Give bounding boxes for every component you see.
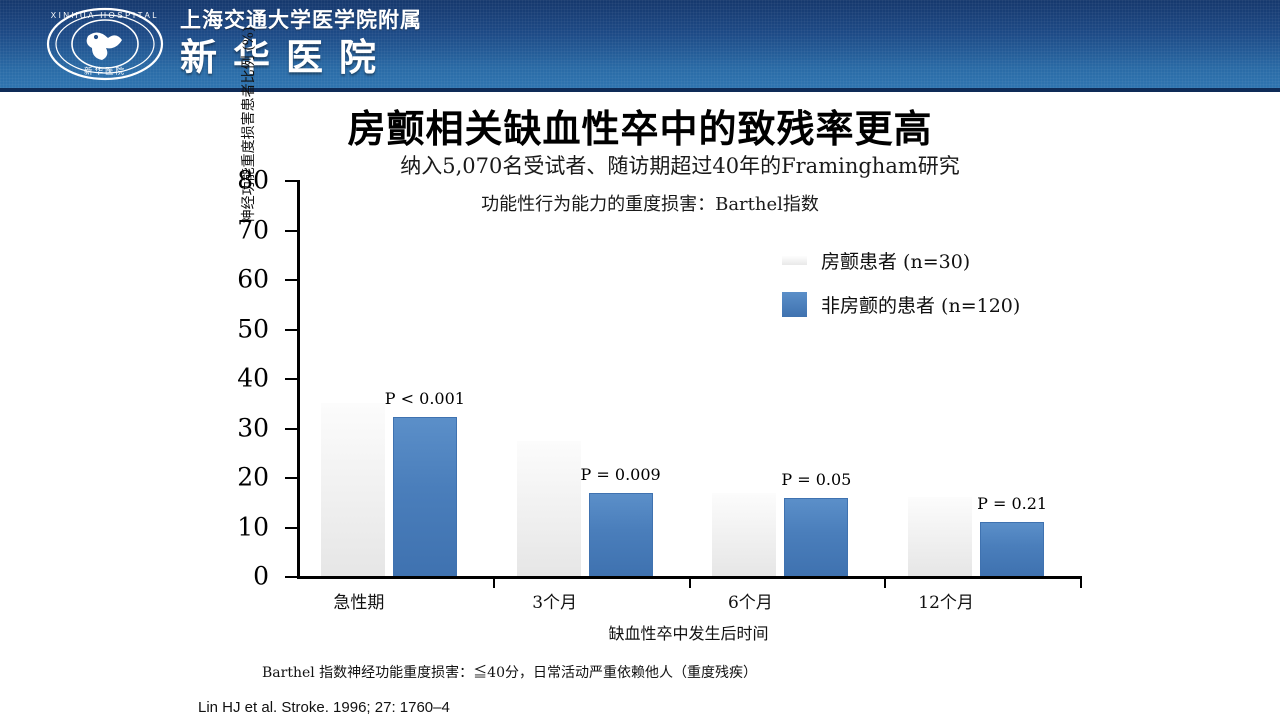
- y-tick-label: 80: [237, 166, 269, 195]
- bar-non-af: [393, 417, 457, 576]
- x-tick: [884, 576, 886, 588]
- y-tick: 70: [285, 230, 297, 232]
- y-tick-label: 30: [237, 413, 269, 442]
- bar-af: [517, 441, 581, 576]
- chart-title: 纳入5,070名受试者、随访期超过40年的Framingham研究: [330, 150, 1030, 180]
- y-tick: 50: [285, 329, 297, 331]
- y-tick-label: 40: [237, 364, 269, 393]
- x-category-label: 6个月: [728, 588, 773, 613]
- y-tick: 20: [285, 477, 297, 479]
- pvalue-label: P = 0.009: [581, 465, 661, 484]
- y-tick: 30: [285, 428, 297, 430]
- legend-label-af: 房颤患者 (n=30): [821, 247, 970, 274]
- y-tick-label: 50: [237, 314, 269, 343]
- bar-non-af: [980, 522, 1044, 576]
- pvalue-label: P = 0.05: [781, 470, 851, 489]
- y-tick: 10: [285, 527, 297, 529]
- footnote-citation: Lin HJ et al. Stroke. 1996; 27: 1760–4: [198, 699, 450, 716]
- y-tick-label: 10: [237, 512, 269, 541]
- bar-af: [908, 497, 972, 576]
- y-tick: 40: [285, 378, 297, 380]
- x-category-label: 12个月: [918, 588, 974, 613]
- legend-swatch-non-af-icon: [782, 292, 807, 317]
- x-tick: [689, 576, 691, 588]
- bar-non-af: [784, 498, 848, 576]
- footnote-definition: Barthel 指数神经功能重度损害：≦40分，日常活动严重依赖他人（重度残疾）: [262, 662, 757, 682]
- x-axis-title: 缺血性卒中发生后时间: [297, 620, 1080, 644]
- bar-non-af: [589, 493, 653, 576]
- y-tick-label: 60: [237, 265, 269, 294]
- x-category-label: 3个月: [532, 588, 577, 613]
- legend-item-non-af: 非房颤的患者 (n=120): [782, 282, 1020, 326]
- y-tick-label: 0: [253, 562, 269, 591]
- y-tick-label: 70: [237, 215, 269, 244]
- pvalue-label: P < 0.001: [385, 389, 465, 408]
- legend-item-af: 房颤患者 (n=30): [782, 238, 1020, 282]
- legend-swatch-af-icon: [782, 256, 807, 265]
- y-axis-line: [297, 180, 300, 576]
- y-tick: 60: [285, 279, 297, 281]
- y-tick: 80: [285, 180, 297, 182]
- bar-af: [712, 493, 776, 576]
- pvalue-label: P = 0.21: [977, 494, 1047, 513]
- x-category-label: 急性期: [333, 588, 384, 613]
- x-tick: [493, 576, 495, 588]
- bar-af: [321, 403, 385, 576]
- x-tick: [1080, 576, 1082, 588]
- y-tick-label: 20: [237, 463, 269, 492]
- y-tick: 0: [285, 576, 297, 578]
- legend-label-non-af: 非房颤的患者 (n=120): [821, 291, 1020, 318]
- bar-chart: 纳入5,070名受试者、随访期超过40年的Framingham研究 功能性行为能…: [0, 0, 1280, 720]
- chart-legend: 房颤患者 (n=30) 非房颤的患者 (n=120): [782, 238, 1020, 326]
